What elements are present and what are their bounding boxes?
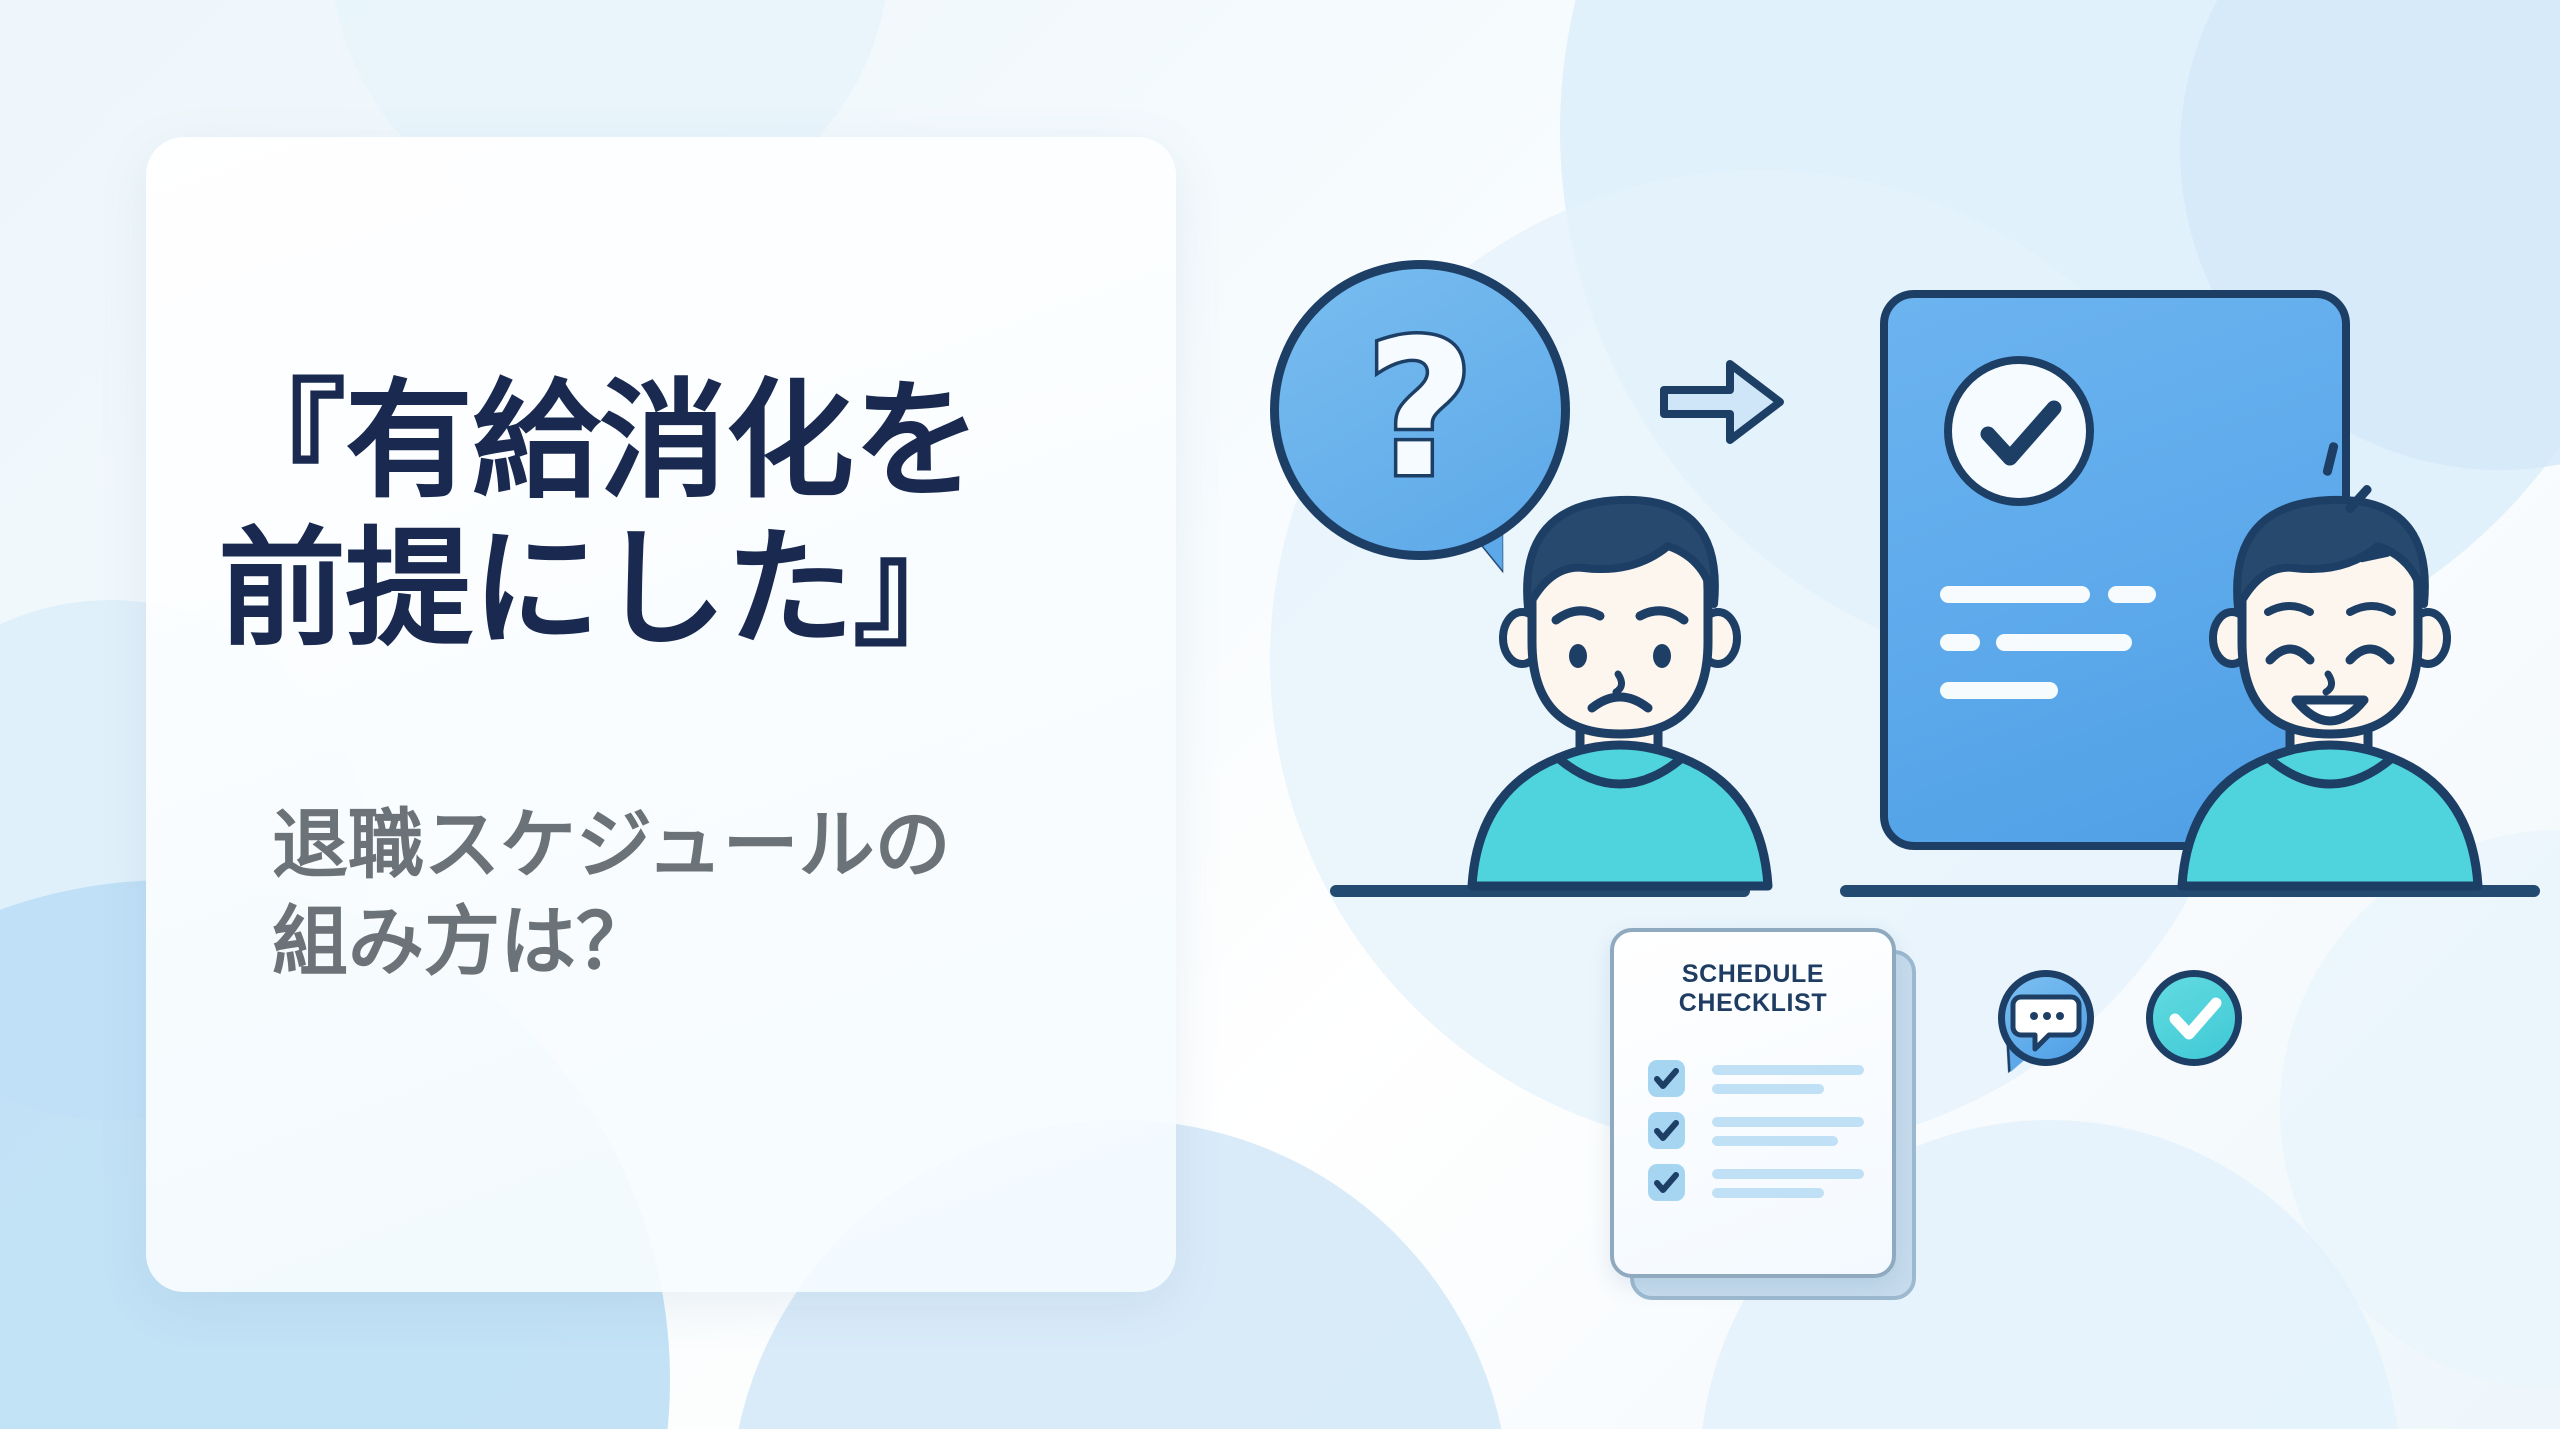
checkbox-checked[interactable] — [1648, 1164, 1685, 1201]
card-text-line — [1996, 634, 2132, 651]
worried-person — [1410, 470, 1830, 900]
check-circle-icon[interactable] — [2146, 970, 2242, 1066]
checklist-line — [1712, 1169, 1864, 1179]
checkbox-checked[interactable] — [1648, 1112, 1685, 1149]
subtitle-line-2: 組み方は？ — [272, 893, 1172, 990]
checklist-line — [1712, 1188, 1824, 1198]
right-arrow-icon — [1658, 352, 1788, 452]
illustration-group: ? — [1240, 260, 2560, 1420]
headline-line-1: 『有給消化を — [218, 368, 1118, 516]
checklist-line — [1712, 1065, 1864, 1075]
title-card — [146, 137, 1176, 1292]
subtitle-line-1: 退職スケジュールの — [272, 796, 1172, 893]
checklist-line — [1712, 1084, 1824, 1094]
poster-canvas: 『有給消化を 前提にした』 退職スケジュールの 組み方は？ ? — [0, 0, 2560, 1429]
checklist-line — [1712, 1136, 1838, 1146]
checklist-title-line-2: CHECKLIST — [1610, 989, 1896, 1018]
card-text-line — [1940, 682, 2058, 699]
chat-bubble-icon[interactable] — [1998, 970, 2094, 1066]
card-text-line — [1940, 634, 1980, 651]
checklist-title: SCHEDULE CHECKLIST — [1610, 960, 1896, 1019]
checklist-title-line-1: SCHEDULE — [1610, 960, 1896, 989]
checklist-line — [1712, 1117, 1864, 1127]
page-title: 『有給消化を 前提にした』 — [218, 368, 1118, 665]
page-subtitle: 退職スケジュールの 組み方は？ — [272, 796, 1172, 991]
smiling-person — [2120, 470, 2540, 900]
headline-line-2: 前提にした』 — [218, 516, 1118, 664]
checkbox-checked[interactable] — [1648, 1060, 1685, 1097]
check-circle-icon — [1944, 356, 2094, 506]
card-text-line — [1940, 586, 2090, 603]
